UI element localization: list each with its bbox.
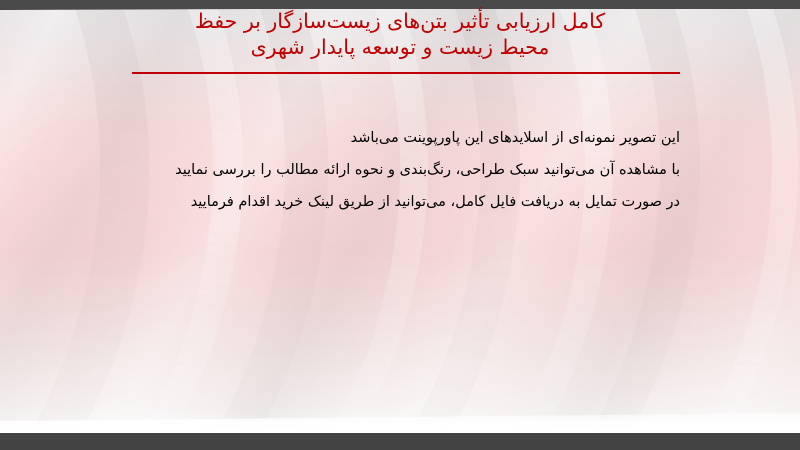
- slide-body: این تصویر نمونه‌ای از اسلایدهای این پاور…: [120, 122, 680, 218]
- slide-body-line-1: این تصویر نمونه‌ای از اسلایدهای این پاور…: [120, 122, 680, 154]
- slide-title-underline: [132, 72, 680, 74]
- frame-bottom-band: [0, 433, 800, 450]
- presentation-slide: کامل ارزیابی تأثیر بتن‌های زیست‌سازگار ب…: [0, 0, 800, 450]
- slide-title: کامل ارزیابی تأثیر بتن‌های زیست‌سازگار ب…: [110, 8, 690, 60]
- red-lens-decoration-icon: [0, 0, 70, 450]
- slide-body-line-3: در صورت تمایل به دریافت فایل کامل، می‌تو…: [120, 186, 680, 218]
- slide-body-line-2: با مشاهده آن می‌توانید سبک طراحی، رنگ‌بن…: [120, 154, 680, 186]
- slide-background-panel: [0, 0, 800, 450]
- slide-title-line-1: کامل ارزیابی تأثیر بتن‌های زیست‌سازگار ب…: [110, 8, 690, 34]
- slide-title-line-2: محیط زیست و توسعه پایدار شهری: [110, 34, 690, 60]
